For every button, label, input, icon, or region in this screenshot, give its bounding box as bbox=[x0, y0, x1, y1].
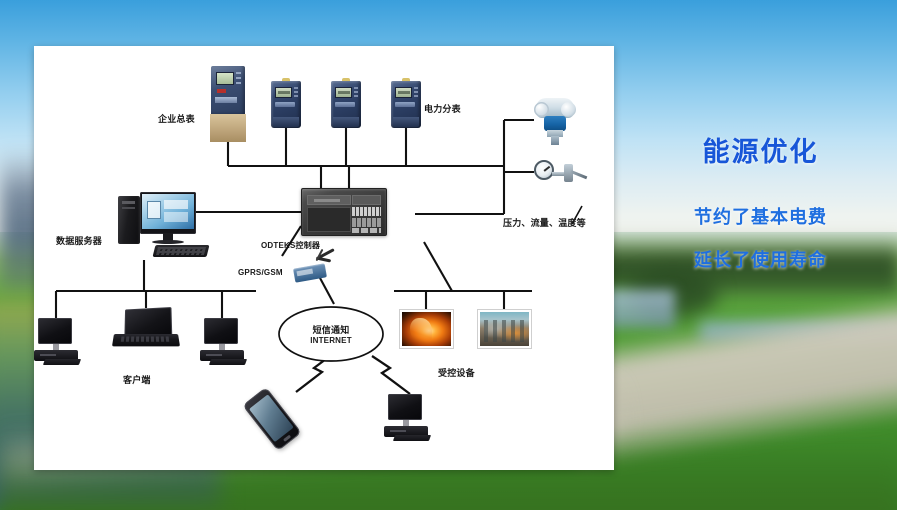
odteks-controller-device[interactable] bbox=[301, 188, 387, 236]
remote-desktop-pc[interactable] bbox=[384, 394, 428, 440]
controller-box-icon bbox=[301, 188, 387, 236]
desktop-pc-icon bbox=[34, 318, 78, 364]
server-workstation-icon bbox=[118, 188, 214, 260]
label-enterprise-meter: 企业总表 bbox=[158, 112, 195, 125]
remote-smartphone[interactable] bbox=[257, 390, 287, 448]
client-laptop[interactable] bbox=[113, 308, 179, 350]
data-server-device[interactable] bbox=[118, 188, 214, 260]
diagram-canvas: 企业总表 电力分表 bbox=[34, 46, 614, 470]
desktop-pc-icon bbox=[200, 318, 244, 364]
pressure-transmitter-device[interactable] bbox=[534, 96, 576, 146]
controlled-equipment-furnace[interactable] bbox=[400, 310, 453, 348]
label-clients: 客户端 bbox=[123, 373, 151, 386]
electric-meter-icon bbox=[391, 81, 421, 128]
slide-canvas: 企业总表 电力分表 bbox=[0, 0, 897, 510]
label-power-submeter: 电力分表 bbox=[424, 102, 461, 115]
electric-meter-icon bbox=[331, 81, 361, 128]
temperature-gauge-icon bbox=[534, 158, 588, 192]
controlled-equipment-plant[interactable] bbox=[478, 310, 531, 348]
client-desktop-right[interactable] bbox=[200, 318, 244, 364]
enterprise-meter-device[interactable] bbox=[211, 66, 245, 142]
power-submeter-2[interactable] bbox=[331, 81, 361, 128]
power-submeter-1[interactable] bbox=[271, 81, 301, 128]
client-desktop-left[interactable] bbox=[34, 318, 78, 364]
label-cloud-sms: 短信通知 bbox=[306, 323, 356, 336]
label-controller: ODTEKS控制器 bbox=[261, 240, 320, 251]
electric-meter-icon bbox=[271, 81, 301, 128]
label-data-server: 数据服务器 bbox=[56, 234, 102, 247]
furnace-photo-icon bbox=[400, 310, 453, 348]
power-submeter-3[interactable] bbox=[391, 81, 421, 128]
label-controlled-equipment: 受控设备 bbox=[438, 366, 475, 379]
label-sensors: 压力、流量、温度等 bbox=[503, 216, 586, 229]
label-gprs-gsm: GPRS/GSM bbox=[238, 268, 283, 277]
network-diagram-card: 企业总表 电力分表 bbox=[34, 46, 614, 470]
temperature-gauge-device[interactable] bbox=[534, 158, 588, 192]
benefits-text-panel: 能源优化 节约了基本电费 延长了使用寿命 bbox=[628, 130, 893, 272]
pressure-transmitter-icon bbox=[534, 96, 576, 146]
industrial-plant-photo-icon bbox=[478, 310, 531, 348]
electric-meter-cabinet-icon bbox=[211, 66, 245, 142]
desktop-pc-icon bbox=[384, 394, 428, 440]
label-cloud-internet: INTERNET bbox=[302, 336, 360, 345]
benefit-line-2: 延长了使用寿命 bbox=[628, 246, 893, 272]
panel-heading: 能源优化 bbox=[628, 130, 893, 169]
laptop-icon bbox=[113, 308, 179, 350]
gprs-modem-icon bbox=[292, 254, 336, 282]
benefit-line-1: 节约了基本电费 bbox=[628, 203, 893, 229]
gprs-modem-device[interactable] bbox=[292, 254, 336, 282]
